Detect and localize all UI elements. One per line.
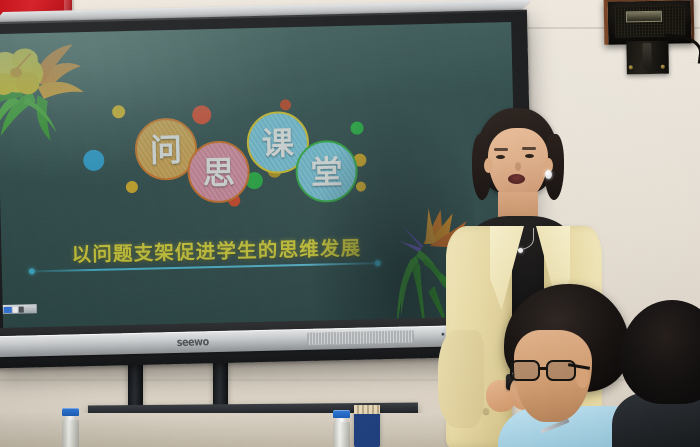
presenter-earring bbox=[545, 170, 552, 179]
presenter-nose bbox=[515, 162, 521, 171]
audience-hair bbox=[620, 300, 700, 404]
paper-cup-stack[interactable] bbox=[354, 405, 380, 447]
bottle-body bbox=[62, 420, 79, 447]
eyeglasses-icon bbox=[510, 360, 584, 382]
audience-member-foreground bbox=[620, 300, 700, 447]
bracket-bolt bbox=[629, 65, 633, 69]
bottle-body bbox=[333, 422, 350, 447]
vest-button bbox=[483, 408, 489, 414]
os-taskbar-sliver[interactable] bbox=[3, 304, 37, 314]
water-bottle[interactable] bbox=[333, 410, 350, 447]
presenter-eyebrow bbox=[494, 148, 508, 151]
presenter-arm bbox=[438, 330, 484, 428]
glasses-bridge bbox=[539, 367, 548, 370]
seewo-brand-logo: seewo bbox=[177, 335, 209, 349]
presenter-eye bbox=[525, 154, 534, 158]
presenter-eye bbox=[496, 155, 505, 159]
water-bottle[interactable] bbox=[62, 408, 79, 447]
wall-mounted-speaker bbox=[604, 0, 695, 45]
taskbar-chip[interactable] bbox=[4, 307, 12, 313]
bottle-cap bbox=[333, 410, 350, 418]
presenter-mouth-open bbox=[508, 174, 525, 184]
glasses-lens bbox=[510, 360, 540, 381]
presenter-ear bbox=[484, 158, 493, 173]
taskbar-chip[interactable] bbox=[13, 307, 18, 313]
presenter-eyebrow bbox=[522, 147, 536, 150]
bracket-bolt bbox=[661, 65, 665, 69]
photo-scene: 问 思 课 堂 以问题支架促进学生的思维发展 bbox=[0, 0, 700, 447]
speaker-brand-label bbox=[626, 11, 662, 23]
bottle-cap bbox=[62, 408, 79, 416]
taskbar-chip[interactable] bbox=[19, 307, 24, 313]
speaker-vent-grille bbox=[307, 330, 413, 344]
